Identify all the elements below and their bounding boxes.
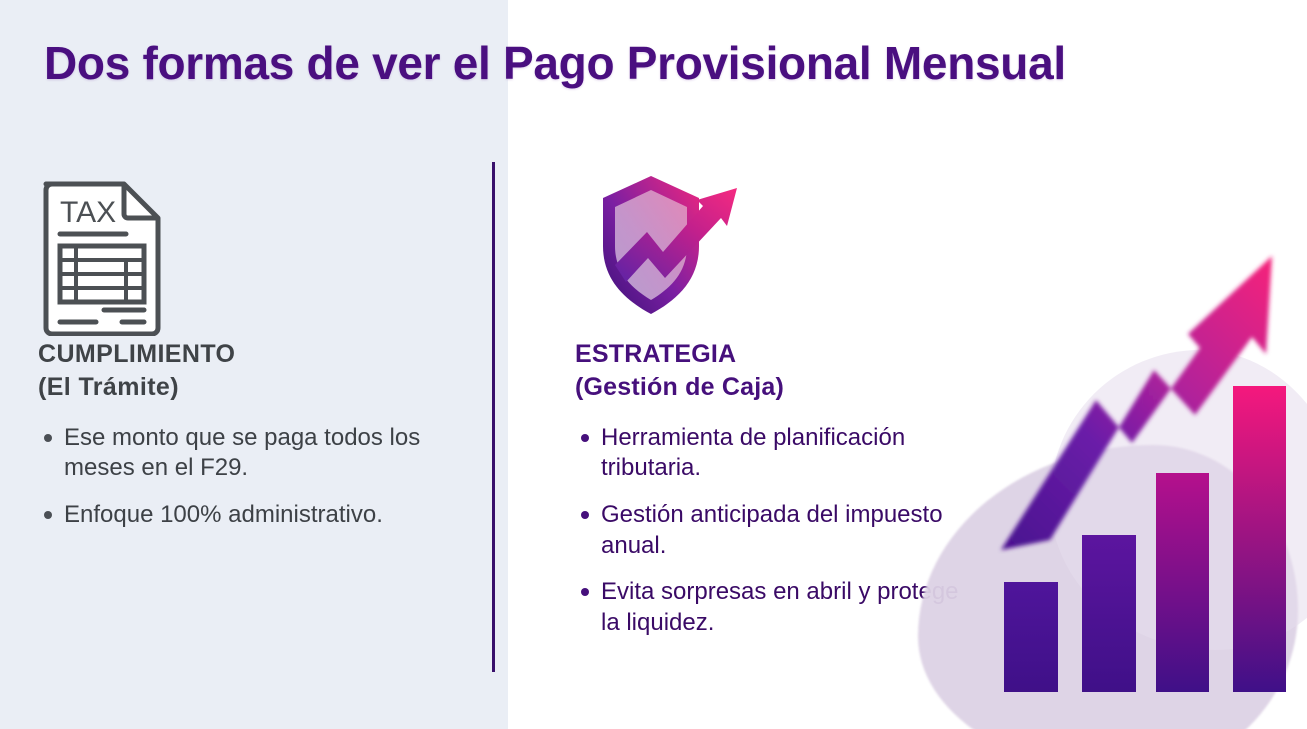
bullet-list-cumplimiento: Ese monto que se paga todos los meses en… — [38, 423, 468, 531]
shield-icon-container — [575, 168, 975, 338]
slide-root: Dos formas de ver el Pago Provisional Me… — [0, 0, 1307, 729]
heading-cumplimiento: CUMPLIMIENTO (El Trámite) — [38, 338, 468, 405]
tax-icon-label: TAX — [60, 196, 116, 229]
list-item: Herramienta de planificación tributaria. — [575, 423, 975, 484]
shield-growth-arrow-icon — [585, 168, 775, 333]
tax-icon-container: TAX — [38, 168, 468, 338]
list-item: Ese monto que se paga todos los meses en… — [38, 423, 468, 484]
heading-cumplimiento-line2: (El Trámite) — [38, 371, 468, 404]
heading-estrategia-line2: (Gestión de Caja) — [575, 371, 975, 404]
list-item: Enfoque 100% administrativo. — [38, 500, 468, 531]
list-item: Gestión anticipada del impuesto anual. — [575, 500, 975, 561]
column-divider — [492, 162, 495, 672]
bullet-list-estrategia: Herramienta de planificación tributaria.… — [575, 423, 975, 639]
list-item: Evita sorpresas en abril y protege la li… — [575, 577, 975, 638]
column-cumplimiento: TAX CUMPLIMIENTO (El Trámite) Ese monto … — [38, 168, 468, 547]
heading-cumplimiento-line1: CUMPLIMIENTO — [38, 338, 468, 371]
heading-estrategia: ESTRATEGIA (Gestión de Caja) — [575, 338, 975, 405]
heading-estrategia-line1: ESTRATEGIA — [575, 338, 975, 371]
column-estrategia: ESTRATEGIA (Gestión de Caja) Herramienta… — [575, 168, 975, 655]
tax-document-icon: TAX — [38, 176, 166, 336]
page-title: Dos formas de ver el Pago Provisional Me… — [44, 36, 1066, 90]
